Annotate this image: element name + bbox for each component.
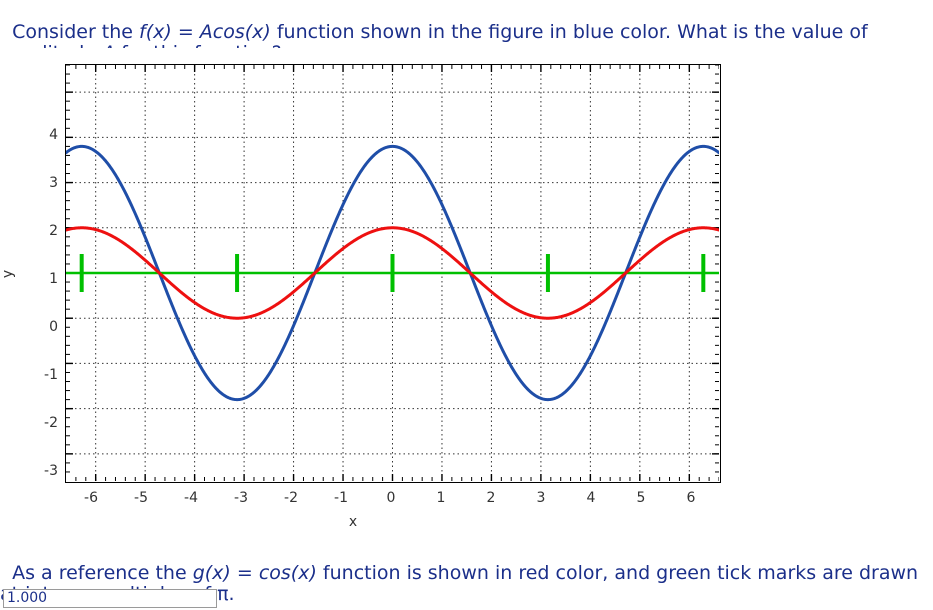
x-axis-label: x <box>333 514 373 530</box>
y-tick-label: 2 <box>18 224 58 238</box>
x-tick-label: 4 <box>576 491 606 505</box>
x-tick-label: -2 <box>276 491 306 505</box>
y-tick-label: -3 <box>18 464 58 478</box>
x-tick-label: 1 <box>426 491 456 505</box>
y-tick-label: 3 <box>18 176 58 190</box>
x-tick-label: 6 <box>676 491 706 505</box>
reference-text-part1: As a reference the <box>12 562 193 584</box>
y-tick-label: 4 <box>18 128 58 142</box>
reference-function-gx: g(x) = cos(x) <box>193 562 317 584</box>
plot-canvas <box>66 65 719 481</box>
y-tick-label: 0 <box>18 320 58 334</box>
plot-area <box>65 64 721 483</box>
x-tick-label: -1 <box>326 491 356 505</box>
x-tick-label: -5 <box>126 491 156 505</box>
amplitude-answer-input[interactable] <box>3 589 217 608</box>
y-axis-label: y <box>0 264 16 284</box>
x-tick-label: 0 <box>376 491 406 505</box>
x-tick-label: -4 <box>176 491 206 505</box>
x-tick-label: -3 <box>226 491 256 505</box>
y-tick-label: 1 <box>18 272 58 286</box>
y-tick-label: -2 <box>18 416 58 430</box>
figure-plot: y x 4 3 2 1 0 -1 -2 -3 -4 -6 -5 -4 -3 -2… <box>0 48 780 540</box>
x-tick-label: 5 <box>626 491 656 505</box>
question-text-part1: Consider the <box>12 21 139 43</box>
question-function-fx: f(x) = Acos(x) <box>139 21 271 43</box>
y-tick-label: -1 <box>18 368 58 382</box>
x-tick-label: -6 <box>76 491 106 505</box>
x-tick-label: 2 <box>476 491 506 505</box>
x-tick-label: 3 <box>526 491 556 505</box>
